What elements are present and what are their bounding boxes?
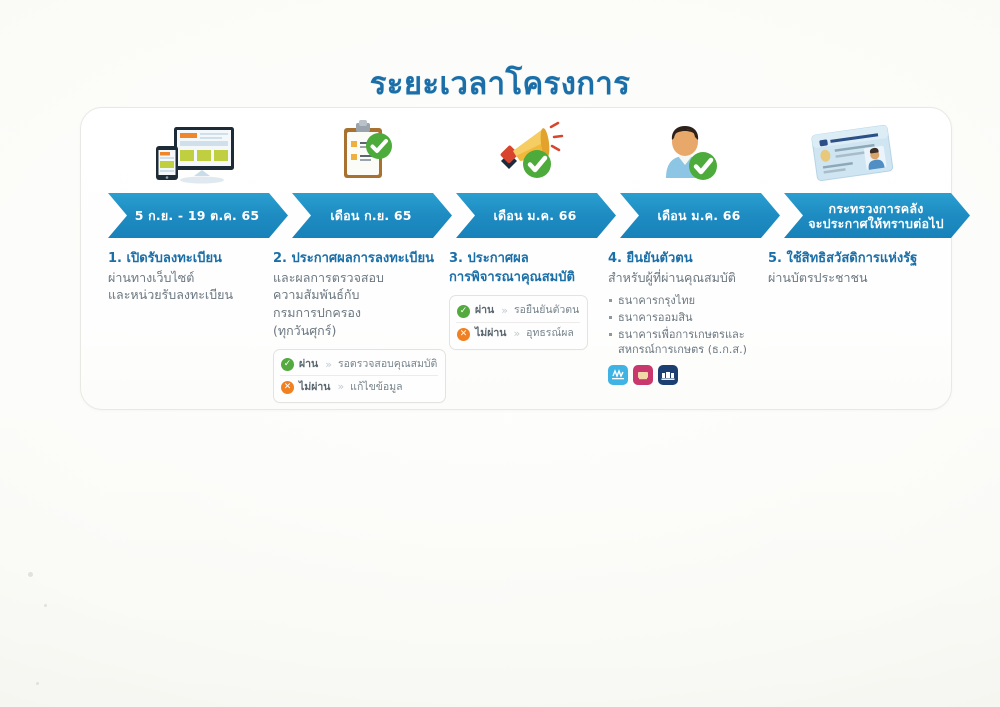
timeline-infographic: ระยะเวลาโครงการ: [0, 0, 1000, 707]
krungthai-bank-logo: [608, 365, 628, 385]
step-2-heading: 2. ประกาศผลการลงทะเบียน: [273, 250, 449, 268]
timeline-arrow-4[interactable]: เดือน ม.ค. 66: [620, 193, 780, 238]
cross-icon: ✕: [281, 381, 294, 394]
step-4-bank-list: ธนาคารกรุงไทย ธนาคารออมสิน ธนาคารเพื่อกา…: [608, 293, 776, 357]
step-3-fail-label: ไม่ผ่าน: [475, 326, 506, 341]
timeline-arrow-3-label: เดือน ม.ค. 66: [493, 208, 576, 223]
step-1: 1. เปิดรับลงทะเบียน ผ่านทางเว็บไซต์ และห…: [108, 250, 276, 304]
government-savings-bank-logo: [633, 365, 653, 385]
step-2-sub-line-2: ความสัมพันธ์กับ: [273, 286, 449, 304]
timeline-arrow-3[interactable]: เดือน ม.ค. 66: [456, 193, 616, 238]
responsive-web-icon: [116, 112, 276, 190]
step-3-heading-line-1: 3. ประกาศผล: [449, 250, 609, 268]
chevron-right-icon: »: [325, 357, 331, 373]
step-columns: 1. เปิดรับลงทะเบียน ผ่านทางเว็บไซต์ และห…: [108, 250, 968, 400]
step-3: 3. ประกาศผล การพิจารณาคุณสมบัติ ✓ ผ่าน »…: [449, 250, 609, 350]
baac-bank-logo: [658, 365, 678, 385]
chevron-right-icon: »: [501, 303, 507, 319]
page-title: ระยะเวลาโครงการ: [0, 58, 1000, 108]
check-icon: ✓: [281, 358, 294, 371]
step-2-pass-label: ผ่าน: [299, 357, 318, 372]
timeline-arrow-1[interactable]: 5 ก.ย. - 19 ต.ค. 65: [108, 193, 288, 238]
step-2: 2. ประกาศผลการลงทะเบียน และผลการตรวจสอบ …: [273, 250, 449, 403]
timeline-arrow-5-label-line1: กระทรวงการคลัง: [808, 201, 944, 216]
step-3-pass-label: ผ่าน: [475, 303, 494, 318]
timeline-arrow-2-label: เดือน ก.ย. 65: [330, 208, 411, 223]
step-4-sub-line-1: สำหรับผู้ที่ผ่านคุณสมบัติ: [608, 269, 776, 287]
clipboard-check-icon: [285, 112, 445, 190]
step-5-sub-line-1: ผ่านบัตรประชาชน: [768, 269, 968, 287]
step-2-sub-line-4: (ทุกวันศุกร์): [273, 322, 449, 340]
chevron-right-icon: »: [513, 326, 519, 342]
timeline-arrow-band: 5 ก.ย. - 19 ต.ค. 65 เดือน ก.ย. 65 เดือน …: [108, 193, 936, 238]
id-card-icon: [772, 112, 932, 190]
step-2-status-pass: ✓ ผ่าน » รอตรวจสอบคุณสมบัติ: [280, 354, 438, 376]
timeline-arrow-4-label: เดือน ม.ค. 66: [657, 208, 740, 223]
step-2-fail-result: แก้ไขข้อมูล: [350, 380, 402, 395]
step-4: 4. ยืนยันตัวตน สำหรับผู้ที่ผ่านคุณสมบัติ…: [608, 250, 776, 385]
step-3-status-pass: ✓ ผ่าน » รอยืนยันตัวตน: [456, 300, 580, 322]
step-3-status-fail: ✕ ไม่ผ่าน » อุทธรณ์ผล: [456, 322, 580, 345]
check-icon: ✓: [457, 305, 470, 318]
step-3-fail-result: อุทธรณ์ผล: [526, 326, 574, 341]
chevron-right-icon: »: [337, 379, 343, 395]
step-2-pass-result: รอตรวจสอบคุณสมบัติ: [338, 357, 437, 372]
timeline-arrow-5-label-line2: จะประกาศให้ทราบต่อไป: [808, 216, 944, 231]
step-3-status-box: ✓ ผ่าน » รอยืนยันตัวตน ✕ ไม่ผ่าน » อุทธร…: [449, 295, 588, 350]
step-2-status-box: ✓ ผ่าน » รอตรวจสอบคุณสมบัติ ✕ ไม่ผ่าน » …: [273, 349, 446, 404]
timeline-arrow-1-label: 5 ก.ย. - 19 ต.ค. 65: [135, 208, 260, 223]
step-3-heading-line-2: การพิจารณาคุณสมบัติ: [449, 269, 609, 287]
list-item: ธนาคารออมสิน: [608, 310, 776, 326]
cross-icon: ✕: [457, 328, 470, 341]
step-1-heading: 1. เปิดรับลงทะเบียน: [108, 250, 276, 268]
step-5-heading: 5. ใช้สิทธิสวัสดิการแห่งรัฐ: [768, 250, 968, 268]
icon-row: [80, 112, 950, 190]
timeline-arrow-2[interactable]: เดือน ก.ย. 65: [292, 193, 452, 238]
step-2-sub-line-3: กรมการปกครอง: [273, 304, 449, 322]
step-4-heading: 4. ยืนยันตัวตน: [608, 250, 776, 268]
list-item: ธนาคารเพื่อการเกษตรและสหกรณ์การเกษตร (ธ.…: [608, 327, 776, 358]
step-4-bank-logos: [608, 365, 776, 385]
timeline-arrow-5[interactable]: กระทรวงการคลัง จะประกาศให้ทราบต่อไป: [784, 193, 970, 238]
step-2-fail-label: ไม่ผ่าน: [299, 380, 330, 395]
list-item: ธนาคารกรุงไทย: [608, 293, 776, 309]
step-2-status-fail: ✕ ไม่ผ่าน » แก้ไขข้อมูล: [280, 375, 438, 398]
step-5: 5. ใช้สิทธิสวัสดิการแห่งรัฐ ผ่านบัตรประช…: [768, 250, 968, 286]
person-check-icon: [610, 112, 770, 190]
step-2-sub-line-1: และผลการตรวจสอบ: [273, 269, 449, 287]
step-1-sub-line-2: และหน่วยรับลงทะเบียน: [108, 286, 276, 304]
step-1-sub-line-1: ผ่านทางเว็บไซต์: [108, 269, 276, 287]
megaphone-check-icon: [448, 112, 608, 190]
step-3-pass-result: รอยืนยันตัวตน: [514, 303, 579, 318]
